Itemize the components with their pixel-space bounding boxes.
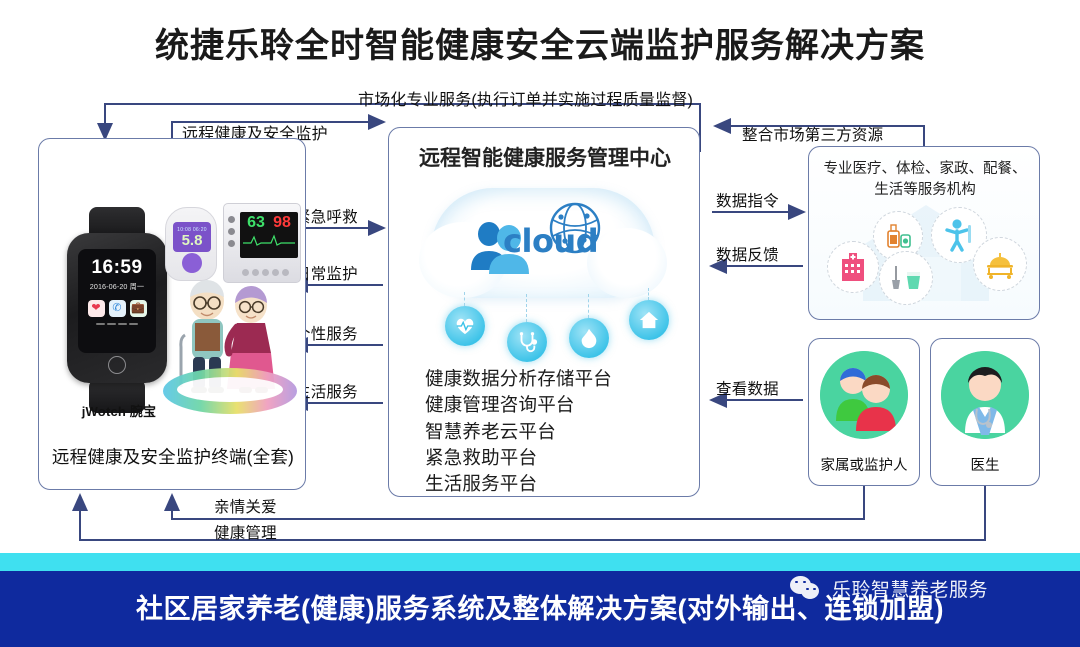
label-health-management: 健康管理 — [214, 521, 277, 543]
wechat-icon — [790, 576, 824, 602]
watch-app-icons: ❤ ✆ 💼 — [88, 300, 147, 317]
watch-home-button[interactable] — [108, 356, 126, 374]
service-icon-group — [819, 207, 1031, 313]
family-avatar — [820, 351, 908, 439]
management-center-box[interactable]: 远程智能健康服务管理中心 cloud — [388, 127, 700, 497]
device-brand-label: jWotch 腕宝 — [39, 401, 199, 420]
family-box-caption: 家属或监护人 — [809, 454, 919, 475]
glucose-button[interactable] — [182, 253, 202, 273]
service-text-line1: 专业医疗、体检、家政、配餐、 — [817, 159, 1033, 180]
doctor-box[interactable]: 医生 — [930, 338, 1040, 486]
management-center-title: 远程智能健康服务管理中心 — [389, 142, 701, 172]
platform-item: 健康数据分析存储平台 — [425, 366, 685, 392]
service-institutions-text: 专业医疗、体检、家政、配餐、 生活等服务机构 — [817, 159, 1033, 201]
bag-icon[interactable]: 💼 — [130, 300, 147, 317]
cloud-illustration: cloud — [417, 178, 673, 353]
doctor-avatar — [941, 351, 1029, 439]
watch-time: 16:59 — [91, 257, 142, 279]
label-family-care: 亲情关爱 — [214, 495, 277, 517]
label-view-data: 查看数据 — [716, 377, 779, 399]
stethoscope-icon[interactable] — [507, 322, 547, 362]
platform-item: 生活服务平台 — [425, 471, 685, 497]
monitor-buttons[interactable] — [242, 269, 289, 276]
vital-signs-monitor: 63 98 — [223, 203, 301, 283]
label-market-service: 市场化专业服务(执行订单并实施过程质量监督) — [358, 86, 693, 110]
health-devices: 10:08 06:20 5.8 63 98 — [165, 199, 301, 285]
platform-item: 智慧养老云平台 — [425, 419, 685, 445]
watch-screen: 16:59 2016-06-20 周一 ❤ ✆ 💼 — [78, 249, 156, 353]
flame-icon[interactable] — [569, 318, 609, 358]
cloud-service-icons — [437, 296, 657, 354]
cloud-wordmark: cloud — [503, 222, 598, 260]
doctor-box-caption: 医生 — [931, 454, 1039, 475]
watch-date: 2016-06-20 周一 — [90, 282, 144, 292]
home-icon[interactable] — [629, 300, 669, 340]
wechat-watermark: 乐聆智慧养老服务 — [790, 575, 988, 602]
spo2-value: 98 — [273, 215, 291, 231]
banner-cyan-strip — [0, 553, 1080, 571]
wechat-watermark-text: 乐聆智慧养老服务 — [832, 575, 988, 602]
glucose-meter: 10:08 06:20 5.8 — [165, 207, 217, 281]
monitor-screen: 63 98 — [240, 212, 298, 258]
cleaning-icon[interactable] — [879, 251, 933, 305]
heart-pulse-icon[interactable] — [445, 306, 485, 346]
terminal-caption: 远程健康及安全监护终端(全套) — [39, 444, 307, 469]
phone-icon[interactable]: ✆ — [109, 300, 126, 317]
label-data-feedback: 数据反馈 — [716, 243, 779, 265]
bottom-banner: 社区居家养老(健康)服务系统及整体解决方案(对外输出、连锁加盟) 乐聆智慧养老服… — [0, 571, 1080, 647]
glucose-value: 5.8 — [182, 233, 203, 248]
terminal-box[interactable]: 16:59 2016-06-20 周一 ❤ ✆ 💼 10:08 0 — [38, 138, 306, 490]
monitor-ports — [228, 216, 235, 247]
watch-indicator-dots — [96, 323, 138, 325]
label-data-command: 数据指令 — [716, 189, 779, 211]
platform-list: 健康数据分析存储平台 健康管理咨询平台 智慧养老云平台 紧急救助平台 生活服务平… — [425, 366, 685, 497]
meal-cart-icon[interactable] — [973, 237, 1027, 291]
glucose-screen: 10:08 06:20 5.8 — [173, 222, 211, 252]
elderly-couple-illustration — [159, 279, 301, 414]
label-integrate-resources: 整合市场第三方资源 — [742, 123, 883, 145]
heart-rate-value: 63 — [247, 215, 265, 231]
platform-item: 紧急救助平台 — [425, 445, 685, 471]
service-text-line2: 生活等服务机构 — [817, 180, 1033, 201]
diagram-root: 统捷乐聆全时智能健康安全云端监护服务解决方案 — [0, 0, 1080, 647]
family-guardian-box[interactable]: 家属或监护人 — [808, 338, 920, 486]
ecg-waveform-icon — [243, 233, 295, 247]
platform-item: 健康管理咨询平台 — [425, 392, 685, 418]
watch-body: 16:59 2016-06-20 周一 ❤ ✆ 💼 — [67, 233, 167, 383]
heart-icon[interactable]: ❤ — [88, 300, 105, 317]
service-institutions-box[interactable]: 专业医疗、体检、家政、配餐、 生活等服务机构 — [808, 146, 1040, 320]
hospital-icon[interactable] — [827, 241, 879, 293]
